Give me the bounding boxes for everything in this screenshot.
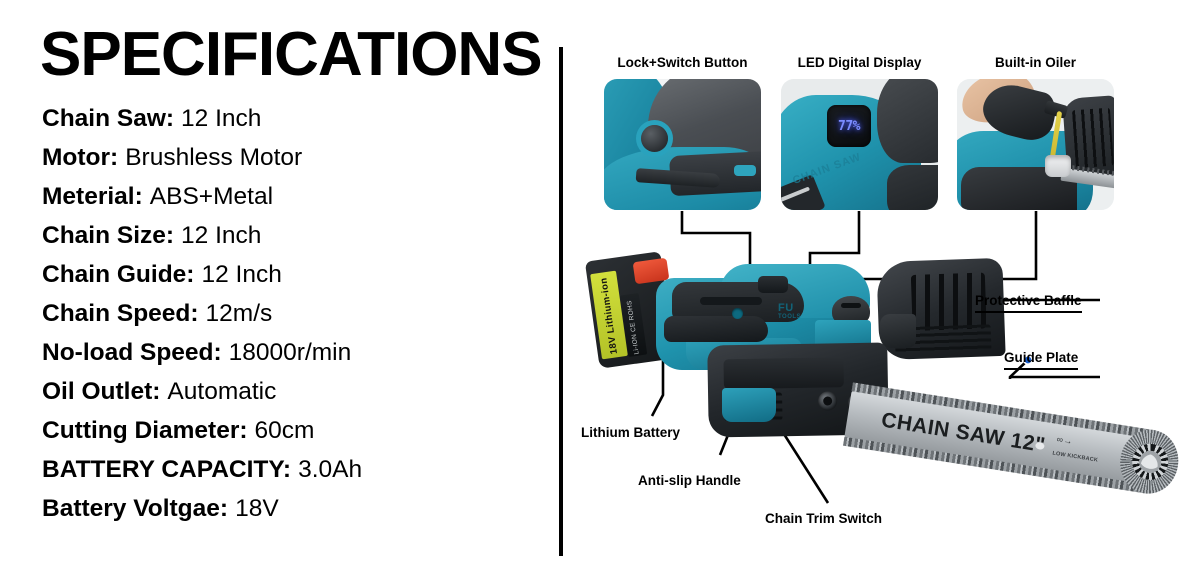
callout-label-protective-baffle: Protective Baffle	[975, 293, 1082, 313]
battery-label-text: 18V Lithium-ion	[597, 271, 620, 355]
spec-value: 60cm	[255, 417, 315, 445]
brand-logo-sub: TOOLS	[778, 314, 801, 320]
spec-label: Chain Size:	[42, 222, 174, 250]
spec-label: Chain Speed:	[42, 300, 199, 328]
spec-row: Chain Size: 12 Inch	[42, 222, 542, 261]
spec-label: Chain Guide:	[42, 261, 194, 289]
spec-row: No-load Speed: 18000r/min	[42, 339, 542, 378]
spec-value: 12m/s	[206, 300, 273, 328]
power-switch[interactable]	[758, 276, 788, 293]
spec-label: Battery Voltgae:	[42, 495, 228, 523]
callout-label-chain-trim-switch: Chain Trim Switch	[765, 511, 882, 526]
spec-row: Chain Speed: 12m/s	[42, 300, 542, 339]
spec-value: 18V	[235, 495, 279, 523]
housing-port	[732, 308, 743, 319]
spec-value: Brushless Motor	[125, 144, 302, 172]
spec-row: Oil Outlet: Automatic	[42, 378, 542, 417]
spec-value: 12 Inch	[181, 222, 261, 250]
spec-row: Chain Saw: 12 Inch	[42, 105, 542, 144]
spec-row: BATTERY CAPACITY: 3.0Ah	[42, 456, 542, 495]
spec-row: Meterial: ABS+Metal	[42, 183, 542, 222]
spec-row: Motor: Brushless Motor	[42, 144, 542, 183]
product-spec-sheet: SPECIFICATIONS Chain Saw: 12 Inch Motor:…	[0, 0, 1200, 579]
callout-label-lithium-battery: Lithium Battery	[581, 425, 680, 440]
spec-value: 18000r/min	[229, 339, 352, 367]
specifications-list: Chain Saw: 12 Inch Motor: Brushless Moto…	[42, 105, 542, 534]
battery-sub-label-text: Li-ION CE ROHS	[625, 293, 641, 355]
spec-row: Battery Voltgae: 18V	[42, 495, 542, 534]
spec-label: Meterial:	[42, 183, 143, 211]
spec-label: No-load Speed:	[42, 339, 222, 367]
chain-saw-illustration: 18V Lithium-ion Li-ION CE ROHS FU TOOLS	[560, 238, 1200, 538]
cover-teal-foot	[722, 388, 776, 422]
specifications-panel: SPECIFICATIONS Chain Saw: 12 Inch Motor:…	[0, 0, 560, 579]
spec-label: Motor:	[42, 144, 118, 172]
guide-bar-mark: ∞ →	[1056, 434, 1072, 446]
brand-logo: FU TOOLS	[778, 302, 801, 320]
cover-plate	[723, 357, 844, 389]
callout-label-anti-slip-handle: Anti-slip Handle	[638, 473, 741, 488]
spec-label: Cutting Diameter:	[42, 417, 248, 445]
spec-label: Chain Saw:	[42, 105, 174, 133]
spec-value: ABS+Metal	[150, 183, 273, 211]
handle-lower-grip	[664, 316, 768, 342]
spec-label: Oil Outlet:	[42, 378, 160, 406]
brand-logo-text: FU	[778, 302, 794, 314]
spec-label: BATTERY CAPACITY:	[42, 456, 291, 484]
spec-value: 12 Inch	[201, 261, 281, 289]
page-title: SPECIFICATIONS	[40, 24, 542, 86]
baffle-mount	[880, 314, 916, 348]
spec-value: 3.0Ah	[298, 456, 362, 484]
guide-bar-kickback-text: LOW KICKBACK	[1052, 450, 1099, 464]
guide-plate-bar: CHAIN SAW 12" ∞ → LOW KICKBACK	[844, 390, 1154, 485]
spec-row: Cutting Diameter: 60cm	[42, 417, 542, 456]
chain-trim-switch[interactable]	[818, 391, 837, 410]
spec-row: Chain Guide: 12 Inch	[42, 261, 542, 300]
product-diagram: Lock+Switch Button LED Digital Display B…	[560, 0, 1200, 579]
spec-value: 12 Inch	[181, 105, 261, 133]
sprocket-wheel-icon	[1130, 441, 1171, 482]
spec-value: Automatic	[167, 378, 276, 406]
callout-label-guide-plate: Guide Plate	[1004, 350, 1078, 370]
